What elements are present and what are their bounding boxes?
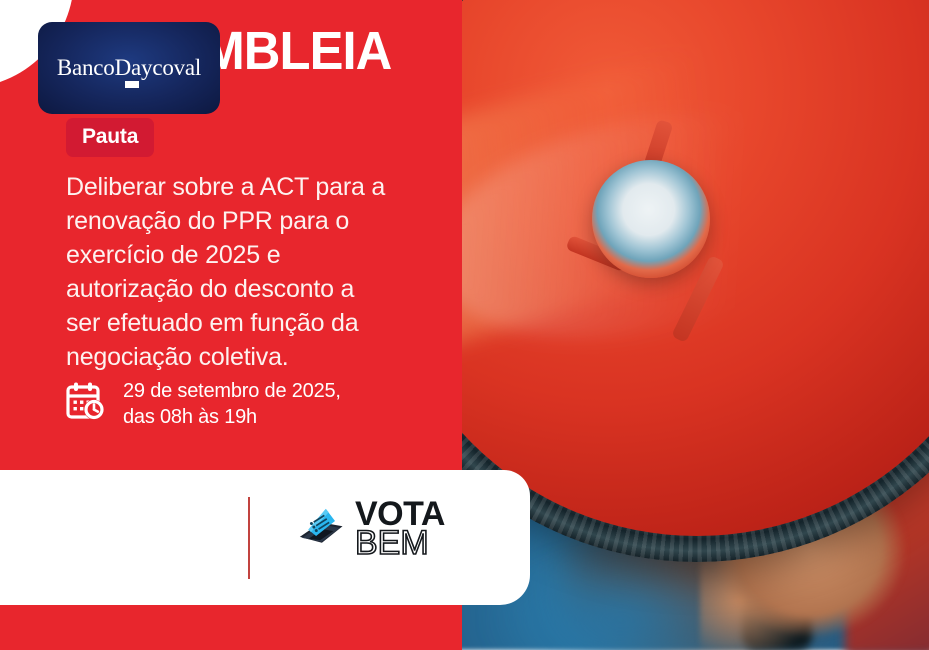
event-date-row: 29 de setembro de 2025, das 08h às 19h (64, 378, 341, 430)
calendar-clock-icon (64, 380, 108, 429)
assembly-poster: ASSEMBLEIA Pauta Deliberar sobre a ACT p… (0, 0, 929, 650)
logo-band (0, 470, 530, 605)
agenda-badge: Pauta (66, 118, 154, 157)
megaphone-driver (592, 160, 710, 278)
vota-bem-logo: VOTA BEM (292, 500, 445, 558)
event-date-text: 29 de setembro de 2025, das 08h às 19h (123, 378, 341, 430)
agenda-body-text: Deliberar sobre a ACT para a renovação d… (66, 170, 386, 374)
banco-daycoval-wordmark: BancoDaycoval (57, 55, 201, 81)
vota-bem-wordmark: VOTA BEM (355, 500, 445, 558)
vota-bem-line2: BEM (355, 529, 445, 558)
logo-divider (248, 497, 250, 579)
banco-daycoval-logo: BancoDaycoval (38, 22, 220, 114)
vota-bem-ballot-phone-icon (292, 502, 346, 557)
